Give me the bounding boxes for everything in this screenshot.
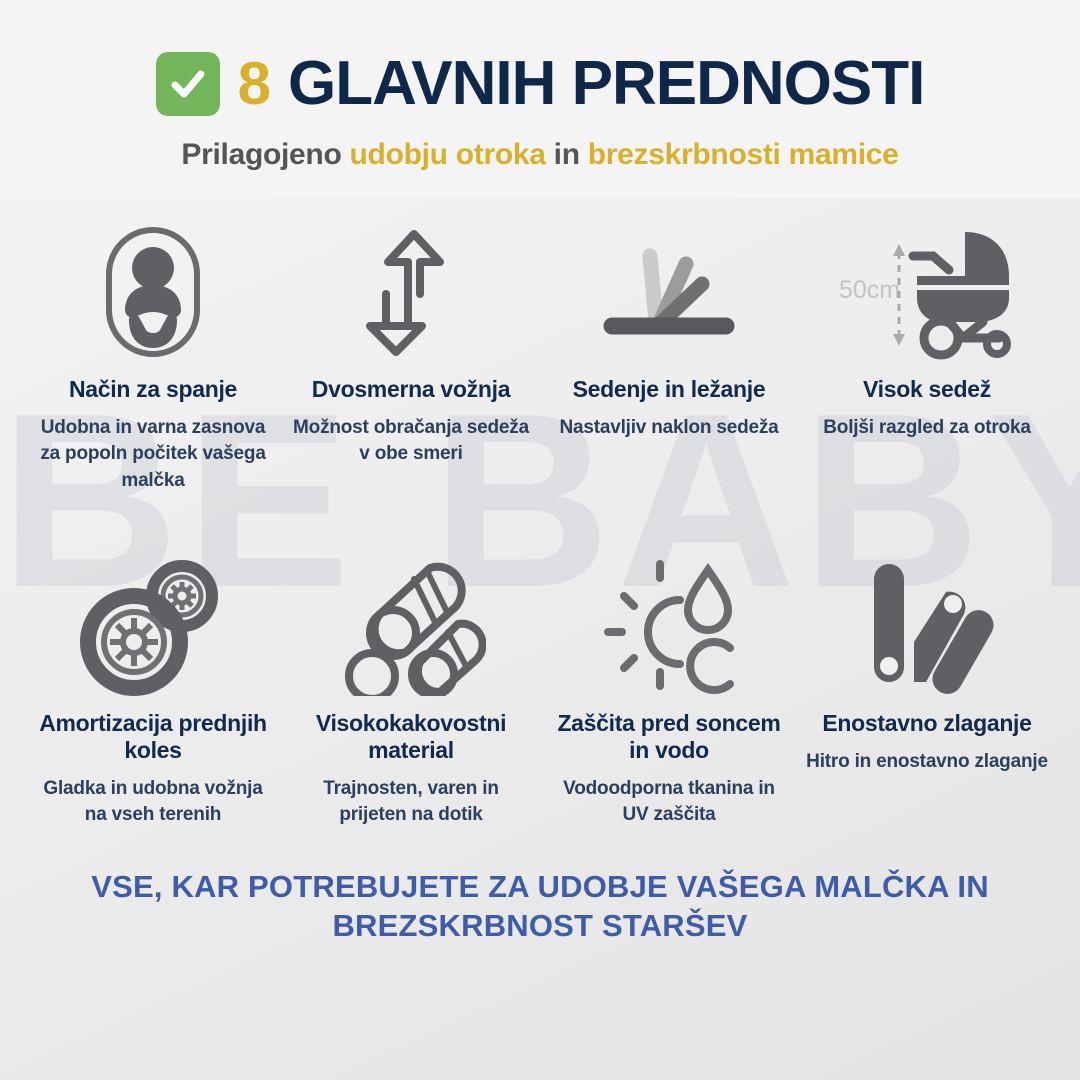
feature-description: Udobna in varna zasnova za popoln počite… [32,415,274,494]
footer-tagline: VSE, KAR POTREBUJETE ZA UDOBJE VAŠEGA MA… [0,868,1080,946]
footer-line-1: VSE, KAR POTREBUJETE ZA UDOBJE VAŠEGA MA… [80,868,1000,907]
feature-card-two-way-ride: Dvosmerna vožnja Možnost obračanja sedež… [282,222,540,494]
feature-description: Hitro in enostavno zlaganje [806,749,1048,775]
footer-line-2: BREZSKRBNOST STARŠEV [80,907,1000,946]
feature-description: Vodoodporna tkanina in UV zaščita [548,776,790,828]
sun-and-water-drop-icon [548,556,790,696]
feature-card-sun-water-protection: Zaščita pred soncem in vodo Vodoodporna … [540,556,798,829]
page-subtitle: Prilagojeno udobju otroka in brezskrbnos… [0,138,1080,172]
feature-description: Trajnosten, varen in prijeten na dotik [290,776,532,828]
feature-card-high-seat: 50cm [798,222,1056,494]
baby-in-cocoon-icon [32,222,274,362]
feature-card-suspension: Amortizacija prednjih koles Gladka in ud… [24,556,282,829]
feature-title: Amortizacija prednjih koles [32,710,274,764]
subtitle-segment-2: in [546,138,588,171]
title-row: 8 GLAVNIH PREDNOSTI [0,52,1080,116]
features-row-2: Amortizacija prednjih koles Gladka in ud… [0,494,1080,829]
feature-description: Možnost obračanja sedeža v obe smeri [290,415,532,467]
feature-card-sleep-mode: Način za spanje Udobna in varna zasnova … [24,222,282,494]
feature-title: Zaščita pred soncem in vodo [548,710,790,764]
feature-card-material: Visokokakovostni material Trajnosten, va… [282,556,540,829]
feature-card-easy-fold: Enostavno zlaganje Hitro in enostavno zl… [798,556,1056,829]
measure-label: 50cm [839,276,900,304]
feature-description: Boljši razgled za otroka [823,415,1030,441]
feature-card-sit-and-recline: Sedenje in ležanje Nastavljiv naklon sed… [540,222,798,494]
feature-description: Gladka in udobna vožnja na vseh terenih [32,776,274,828]
folding-mechanism-icon [806,556,1048,696]
feature-title: Način za spanje [69,376,237,403]
stroller-height-icon: 50cm [806,222,1048,362]
feature-title: Visok sedež [863,376,991,403]
feature-title: Dvosmerna vožnja [312,376,510,403]
subtitle-highlight-2: brezskrbnosti mamice [588,138,899,171]
features-row-1: Način za spanje Udobna in varna zasnova … [0,198,1080,494]
subtitle-highlight-1: udobju otroka [350,138,546,171]
feature-title: Enostavno zlaganje [822,710,1031,737]
fabric-rolls-icon [290,556,532,696]
two-way-arrow-icon [290,222,532,362]
recline-seat-icon [548,222,790,362]
benefit-count: 8 [238,54,270,114]
feature-title: Sedenje in ležanje [573,376,766,403]
page-title: GLAVNIH PREDNOSTI [288,53,924,115]
feature-description: Nastavljiv naklon sedeža [559,415,778,441]
feature-title: Visokokakovostni material [290,710,532,764]
infographic-poster: BE BABY. 8 GLAVNIH PREDNOSTI Prilagojeno… [0,0,1080,1080]
check-icon [156,52,220,116]
header: 8 GLAVNIH PREDNOSTI Prilagojeno udobju o… [0,0,1080,198]
wheels-icon [32,556,274,696]
subtitle-segment-1: Prilagojeno [181,138,349,171]
